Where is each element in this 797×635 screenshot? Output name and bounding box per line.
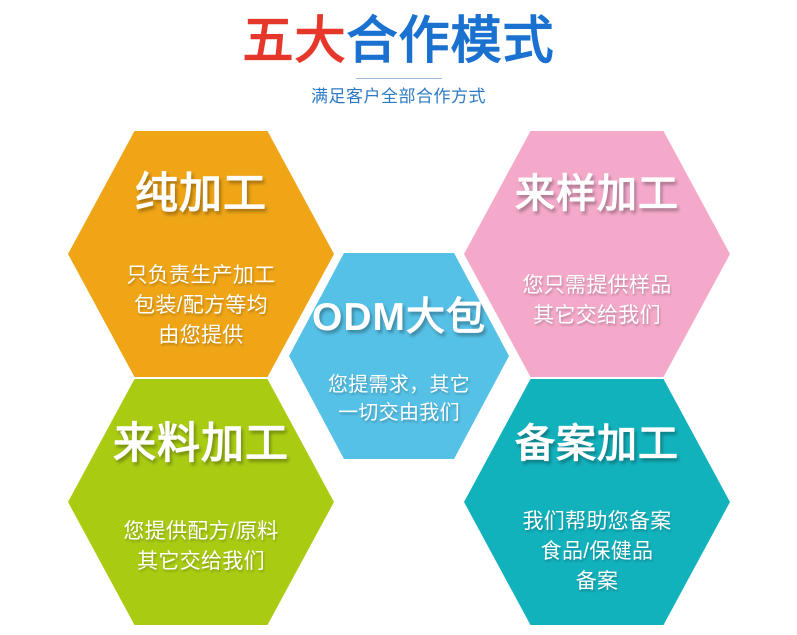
hexagon-title: ODM大包: [289, 293, 509, 343]
hexagon-description-line: 一切交由我们: [289, 399, 509, 427]
hexagon-title: 来样加工: [464, 169, 730, 219]
hexagon-title: 纯加工: [68, 169, 334, 219]
hexagon-description-line: 我们帮助您备案: [464, 507, 730, 537]
hexagon-card-material-processing[interactable]: 来料加工 您提供配方/原料 其它交给我们: [68, 379, 334, 625]
hexagon-description: 您提供配方/原料 其它交给我们: [68, 517, 334, 577]
hexagon-description: 只负责生产加工 包装/配方等均 由您提供: [68, 261, 334, 351]
hexagon-description: 您提需求，其它 一切交由我们: [289, 371, 509, 427]
hexagon-title: 备案加工: [464, 419, 730, 469]
hexagon-description-line: 您提供配方/原料: [68, 517, 334, 547]
hexagon-title: 来料加工: [68, 419, 334, 469]
hexagon-card-sample-processing[interactable]: 来样加工 您只需提供样品 其它交给我们: [464, 131, 730, 377]
hexagon-description-line: 食品/保健品: [464, 537, 730, 567]
hexagon-description: 我们帮助您备案 食品/保健品 备案: [464, 507, 730, 597]
hexagon-description: 您只需提供样品 其它交给我们: [464, 271, 730, 331]
hexagon-description-line: 备案: [464, 567, 730, 597]
hexagon-description-line: 您提需求，其它: [289, 371, 509, 399]
hexagon-card-odm[interactable]: ODM大包 您提需求，其它 一切交由我们: [289, 253, 509, 459]
hexagon-card-pure-processing[interactable]: 纯加工 只负责生产加工 包装/配方等均 由您提供: [68, 131, 334, 377]
hexagon-card-registration-processing[interactable]: 备案加工 我们帮助您备案 食品/保健品 备案: [464, 379, 730, 625]
cooperation-modes-infographic: 五大合作模式 满足客户全部合作方式 纯加工 只负责生产加工 包装/配方等均 由您…: [0, 0, 797, 635]
hexagon-description-line: 包装/配方等均: [68, 291, 334, 321]
hexagon-description-line: 只负责生产加工: [68, 261, 334, 291]
hexagon-description-line: 其它交给我们: [68, 547, 334, 577]
hexagon-description-line: 其它交给我们: [464, 301, 730, 331]
hexagon-description-line: 您只需提供样品: [464, 271, 730, 301]
hexagon-grid: 纯加工 只负责生产加工 包装/配方等均 由您提供 来样加工 您只需提供样品 其它…: [0, 0, 797, 635]
